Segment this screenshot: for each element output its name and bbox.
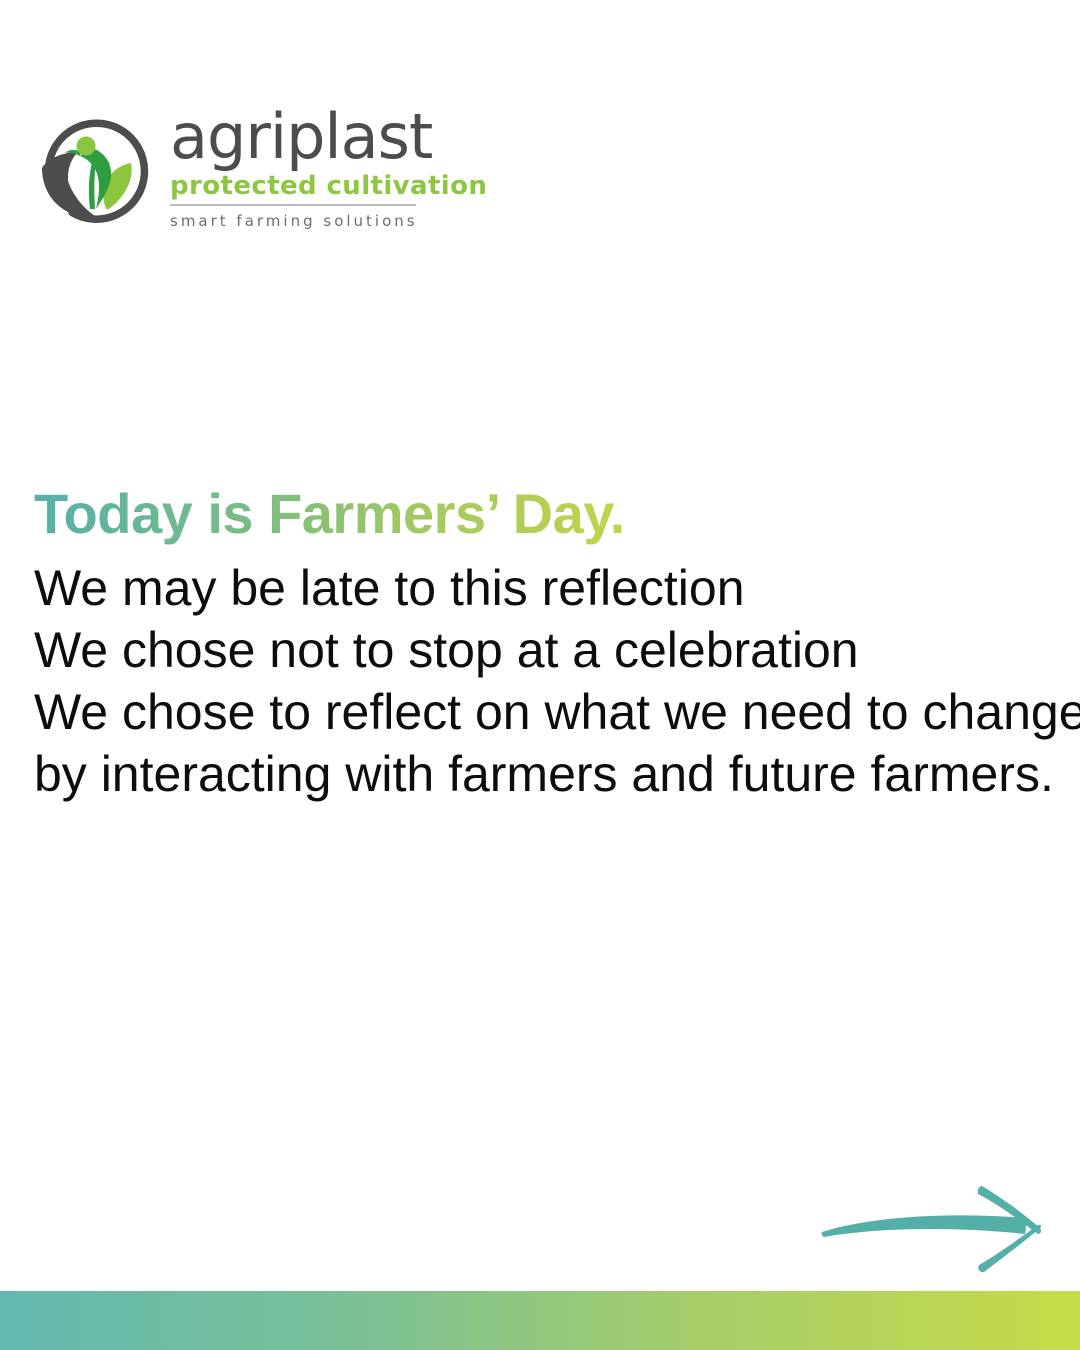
brand-divider <box>170 204 416 206</box>
slide-canvas: agriplast protected cultivation smart fa… <box>0 0 1080 1350</box>
brand-logo: agriplast protected cultivation smart fa… <box>34 104 434 244</box>
brand-tagline-secondary: smart farming solutions <box>170 211 416 231</box>
brand-logo-text: agriplast protected cultivation smart fa… <box>170 104 487 231</box>
next-slide-arrow[interactable] <box>812 1176 1062 1286</box>
agriplast-leaf-circle-logo <box>34 108 162 236</box>
footer-gradient-bar <box>0 1291 1080 1350</box>
brand-wordmark: agriplast <box>170 106 487 168</box>
body-line: We chose not to stop at a celebration <box>34 619 1054 681</box>
brand-tagline-primary: protected cultivation <box>170 171 487 201</box>
body-line: We chose to reflect on what we need to c… <box>34 681 1054 743</box>
page-title: Today is Farmers’ Day. <box>34 483 625 545</box>
body-line: We may be late to this reflection <box>34 557 1054 619</box>
body-copy: We may be late to this reflection We cho… <box>34 557 1054 805</box>
body-line: by interacting with farmers and future f… <box>34 743 1054 805</box>
